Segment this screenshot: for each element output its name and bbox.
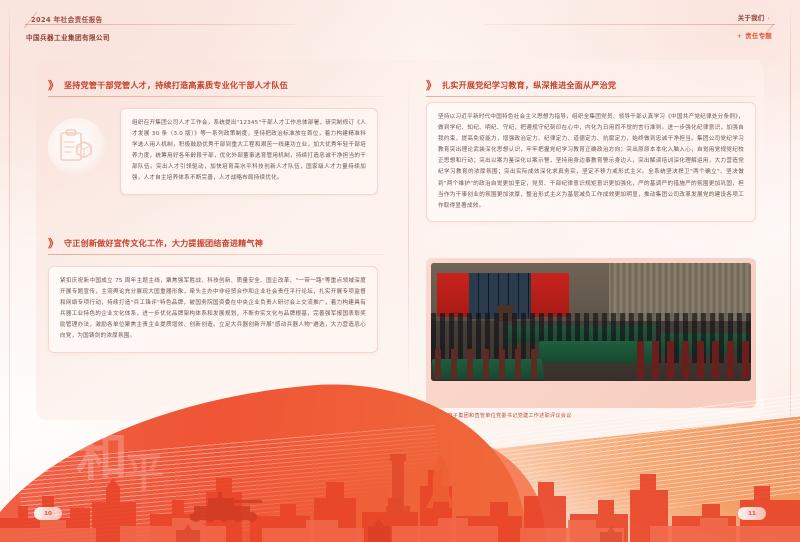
section-culture-publicity-rule	[48, 254, 384, 255]
section-culture-publicity: 》 守正创新做好宣传文化工作，大力提振团结奋进精气神	[48, 238, 384, 255]
section-party-discipline-title: 扎实开展党纪学习教育，纵深推进全面从严治党	[442, 80, 616, 91]
monument-icon	[378, 450, 418, 516]
photo-red-banner-right	[531, 273, 569, 317]
section-culture-publicity-head: 》 守正创新做好宣传文化工作，大力提振团结奋进精气神	[48, 238, 384, 249]
header-link-topic[interactable]: +责任专题	[737, 31, 772, 40]
cadre-talent-body-text: 组织召开集团公司人才工作会，系统提出"12345"干部人才工作总体部署，研究制修…	[132, 118, 366, 185]
header-link-topic-label: 责任专题	[745, 32, 772, 40]
company-name: 中国兵器工业集团有限公司	[26, 32, 110, 42]
header-rule-right	[485, 24, 775, 25]
culture-publicity-body-text: 紧扣庆祝新中国成立 75 周年主题主线，聚焦强军胜战、科技创新、质量安全、国企改…	[60, 276, 366, 343]
column-divider	[408, 74, 409, 404]
double-chevron-icon: 》	[426, 80, 435, 91]
section-party-discipline-rule	[426, 96, 756, 97]
cadre-talent-body-card: 组织召开集团公司人才工作会，系统提出"12345"干部人才工作总体部署，研究制修…	[120, 108, 378, 195]
plus-icon: +	[737, 33, 742, 40]
page-number-right: 11	[738, 507, 766, 520]
tank-silhouette-icon	[186, 484, 264, 524]
meeting-photo	[431, 263, 751, 381]
report-title: 2024 年社会责任报告	[31, 14, 103, 24]
header-link-about-label: 关于我们	[738, 14, 765, 22]
culture-publicity-body-card: 紧扣庆祝新中国成立 75 周年主题主线，聚焦强军胜战、科技创新、质量安全、国企改…	[48, 266, 378, 353]
decorative-footer-band: 和 平	[0, 382, 800, 542]
clipboard-cube-icon	[48, 118, 106, 176]
party-discipline-body-card: 坚持以习近平新时代中国特色社会主义思想为指导，组织全集团党员、领导干部认真学习《…	[426, 102, 756, 222]
section-cadre-talent-title: 坚持党管干部党管人才，持续打造高素质专业化干部人才队伍	[64, 80, 288, 91]
section-cadre-talent-head: 》 坚持党管干部党管人才，持续打造高素质专业化干部人才队伍	[48, 80, 384, 91]
section-party-discipline: 》 扎实开展党纪学习教育，纵深推进全面从严治党	[426, 80, 756, 97]
section-cadre-talent-rule	[48, 96, 384, 97]
rocket-icon	[424, 454, 458, 512]
section-cadre-talent: 》 坚持党管干部党管人才，持续打造高素质专业化干部人才队伍	[48, 80, 384, 97]
photo-chairs	[637, 341, 751, 379]
header-link-about[interactable]: 关于我们‹	[738, 13, 770, 22]
content-panel: 》 坚持党管干部党管人才，持续打造高素质专业化干部人才队伍 组织召开集团公司人才…	[36, 60, 764, 420]
photo-chairs	[435, 349, 545, 379]
page-number-left: 10	[34, 507, 62, 520]
section-party-discipline-head: 》 扎实开展党纪学习教育，纵深推进全面从严治党	[426, 80, 756, 91]
double-chevron-icon: 》	[48, 80, 57, 91]
chevron-left-icon: ‹	[767, 16, 770, 22]
report-page: 2024 年社会责任报告 中国兵器工业集团有限公司 关于我们‹ +责任专题 》 …	[0, 0, 800, 542]
party-discipline-body-text: 坚持以习近平新时代中国特色社会主义思想为指导，组织全集团党员、领导干部认真学习《…	[438, 112, 744, 212]
double-chevron-icon: 》	[48, 238, 57, 249]
header-rule-left	[25, 24, 295, 25]
section-culture-publicity-title: 守正创新做好宣传文化工作，大力提振团结奋进精气神	[64, 238, 263, 249]
